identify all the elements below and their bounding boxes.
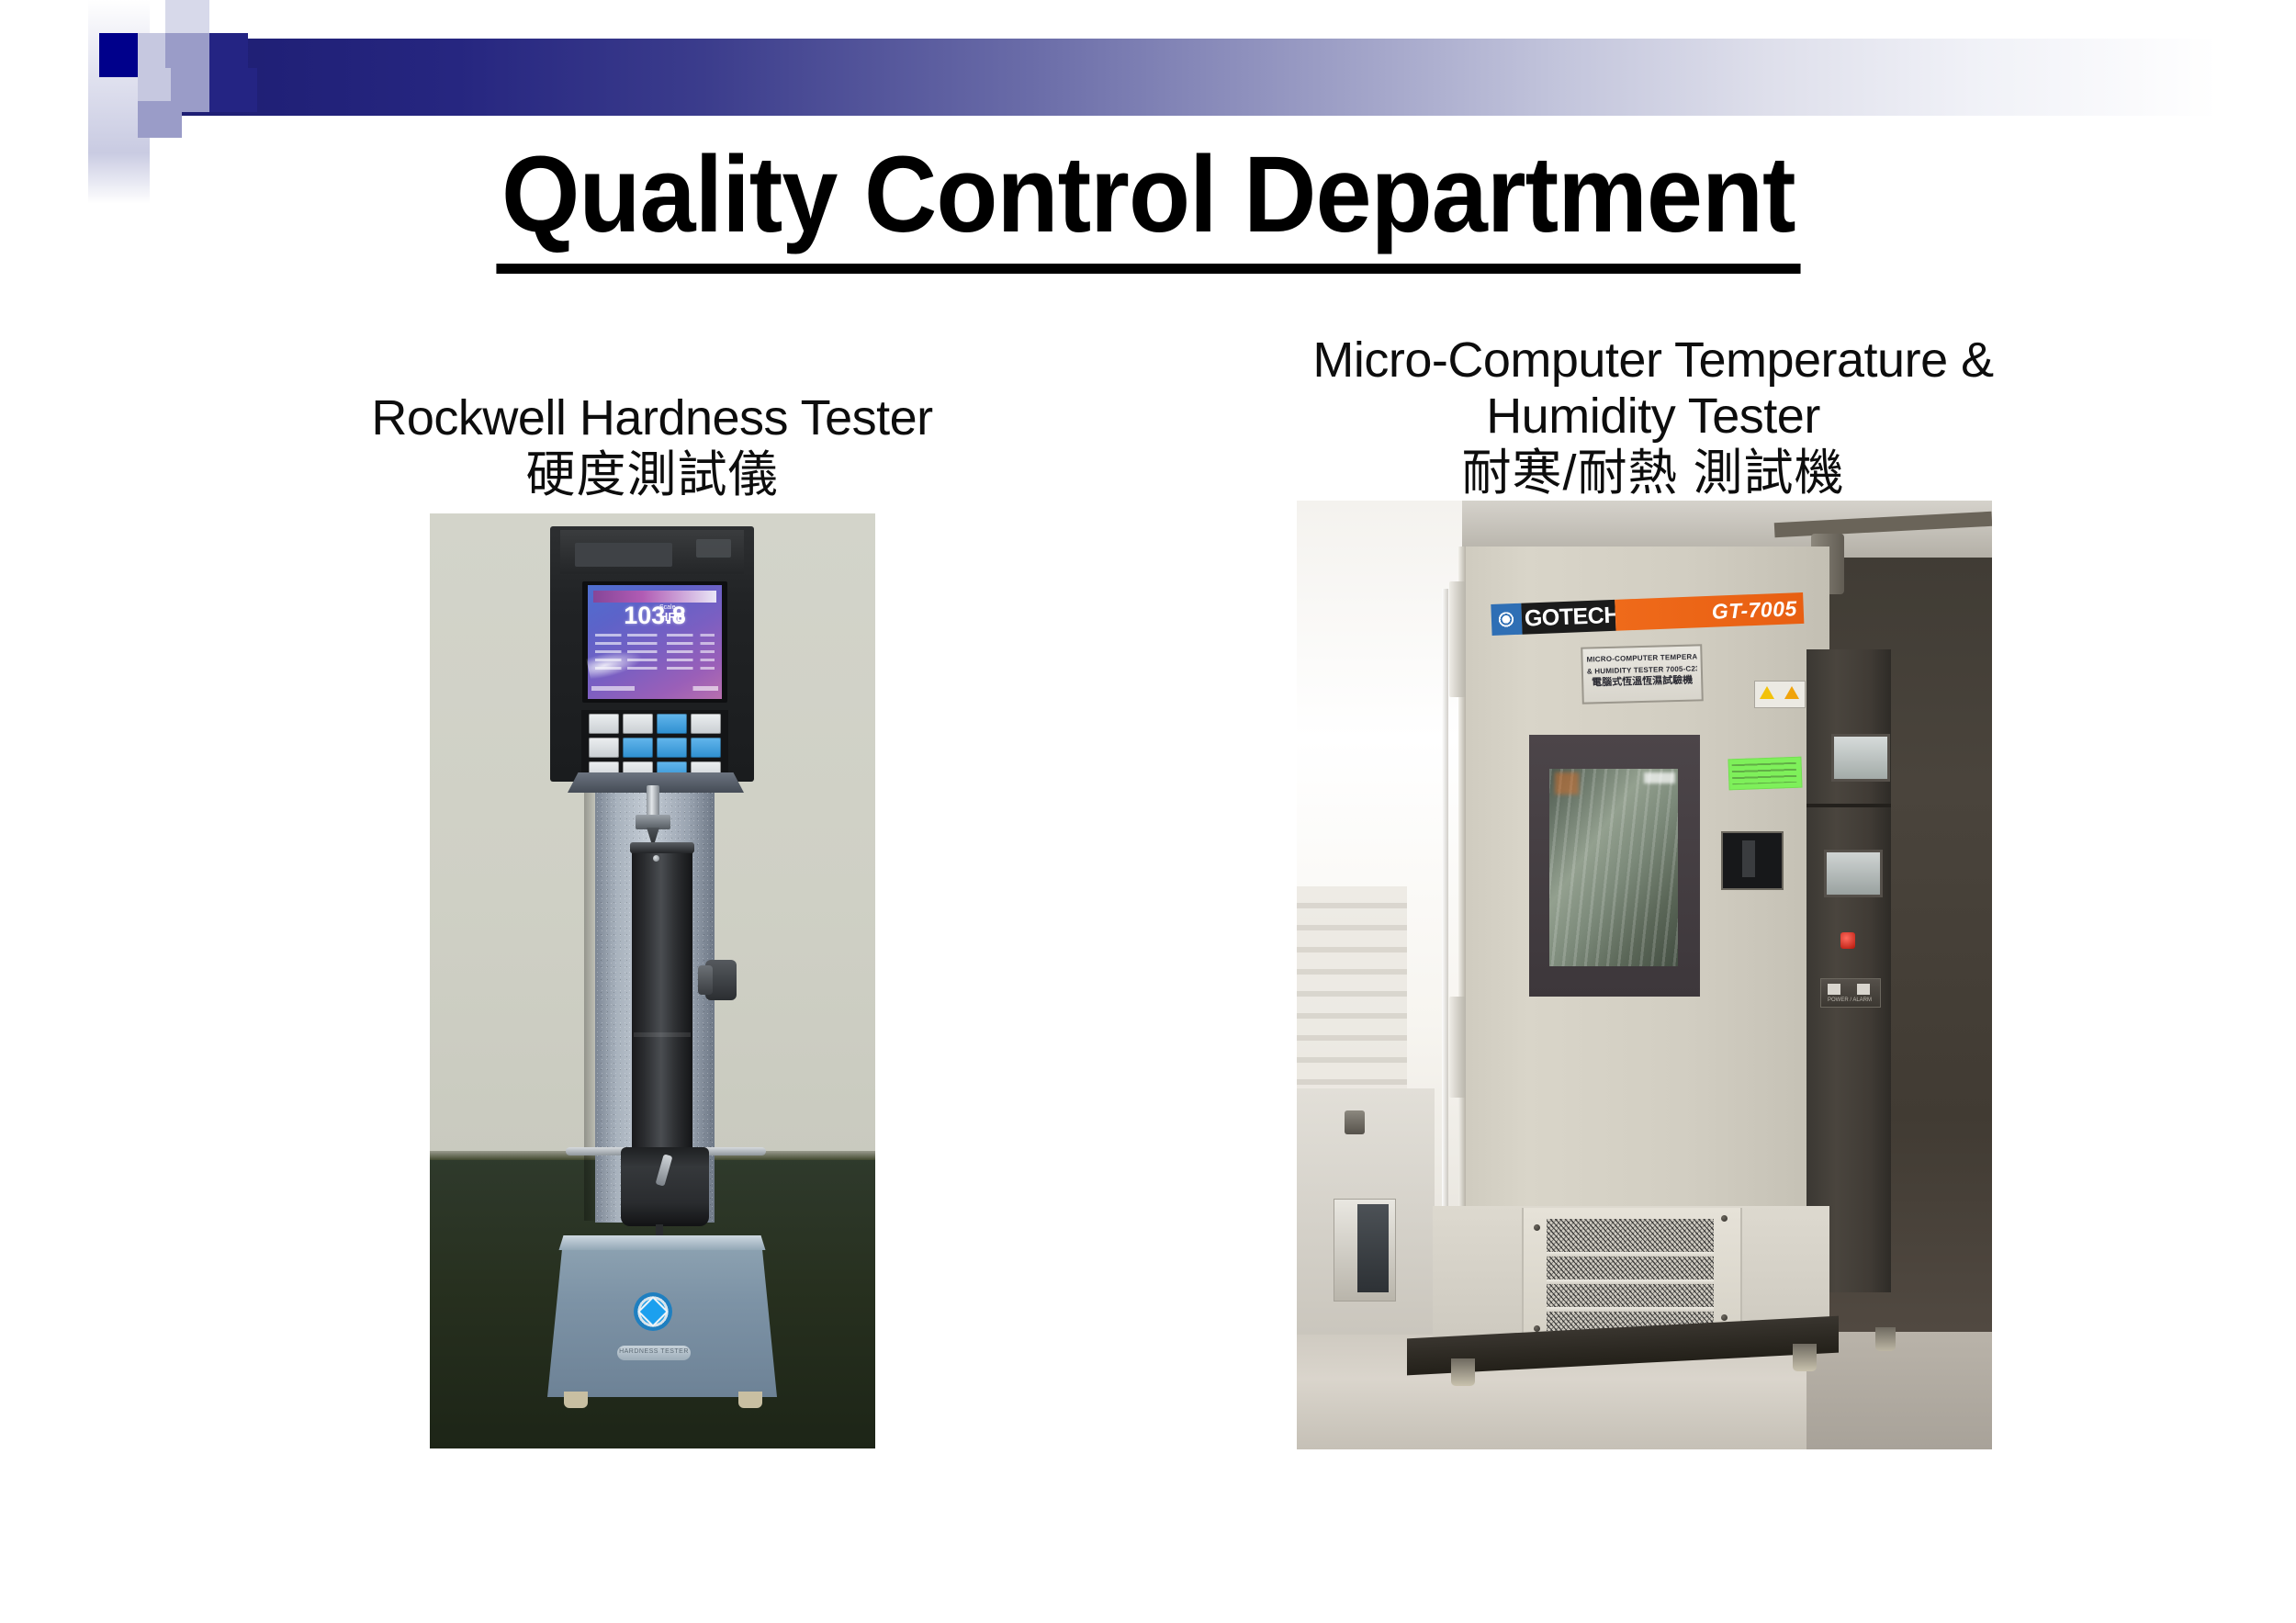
chamber-leveling-foot-right: [1793, 1344, 1817, 1371]
chamber-switch-right[interactable]: [1857, 984, 1870, 995]
tester-spindle: [647, 785, 659, 818]
header-decoration-band: [0, 0, 2296, 129]
chamber-door-hinge-bottom: [1449, 997, 1466, 1098]
header-square-9: [138, 101, 182, 138]
photo-rockwell-hardness-tester: 103.8 Scale HRB HARDNE: [430, 513, 875, 1448]
tester-foot-left: [564, 1392, 588, 1408]
chamber-vent-screw-br: [1721, 1314, 1728, 1321]
tester-column-cap: [630, 842, 694, 853]
tester-indenter-chuck: [636, 815, 670, 829]
page-title: Quality Control Department: [496, 138, 1800, 274]
keypad-key-up[interactable]: [657, 714, 687, 734]
chamber-switch-label: POWER / ALARM: [1820, 997, 1879, 1003]
title-container: Quality Control Department: [0, 138, 2296, 274]
keypad-key-right[interactable]: [691, 738, 721, 758]
tester-lcd-status-bar: [591, 686, 718, 691]
spec-plate-line3: 電腦式恆溫恆濕試驗機: [1587, 674, 1697, 689]
keypad-key-ok[interactable]: [657, 738, 687, 758]
chamber-leveling-foot-left: [1451, 1358, 1475, 1386]
chamber-vent-rib-2: [1547, 1279, 1714, 1284]
chamber-model-number: GT-7005: [1711, 596, 1804, 625]
chamber-window-glare: [1549, 769, 1678, 966]
chamber-brand-name: GOTECH: [1524, 603, 1615, 632]
keypad-key-print[interactable]: [589, 714, 619, 734]
chamber-vent-rib-1: [1547, 1252, 1714, 1257]
chamber-power-indicator-icon: [1840, 932, 1855, 949]
chamber-leveling-foot-far: [1875, 1327, 1896, 1351]
photo-temperature-humidity-chamber: GOTECH GT-7005 MICRO-COMPUTER TEMPERATUR…: [1297, 501, 1992, 1449]
gotech-target-icon: [1496, 609, 1517, 630]
tester-lcd-unit-main: HRB: [659, 610, 685, 624]
keypad-key-tool[interactable]: [623, 714, 653, 734]
caption-chamber-en-line1: Micro-Computer Temperature &: [1231, 332, 2076, 389]
chamber-side-knob[interactable]: [1345, 1110, 1365, 1134]
chamber-spec-plate: MICRO-COMPUTER TEMPERATURE & HUMIDITY TE…: [1581, 644, 1704, 704]
header-square-8: [209, 68, 257, 112]
keypad-key-esc[interactable]: [691, 714, 721, 734]
chamber-vent-screw-tl: [1534, 1224, 1540, 1231]
caption-rockwell-zh: 硬度測試儀: [303, 446, 1001, 505]
keypad-key-input[interactable]: [589, 738, 619, 758]
tester-anvil-stem: [656, 1224, 663, 1237]
tester-elevating-screw-column: [632, 846, 692, 1149]
chamber-door-hinge-top: [1449, 581, 1466, 697]
tester-base-top-edge: [547, 1235, 777, 1250]
chamber-warning-stickers: [1754, 681, 1806, 708]
keypad-key-left[interactable]: [623, 738, 653, 758]
chamber-control-display[interactable]: [1824, 850, 1883, 897]
chamber-door-gap: [1442, 589, 1448, 1287]
tester-lcd-value: 103.8: [588, 603, 722, 628]
tester-keypad[interactable]: [589, 714, 721, 782]
tester-printer-slot: [575, 543, 672, 567]
caption-chamber-zh: 耐寒/耐熱 測試機: [1231, 445, 2076, 503]
chamber-switch-left[interactable]: [1828, 984, 1840, 995]
chamber-control-upper-panel[interactable]: [1831, 734, 1890, 782]
chamber-calibration-label-text: [1732, 762, 1797, 784]
chamber-vent-mesh: [1547, 1219, 1714, 1331]
caption-rockwell: Rockwell Hardness Tester 硬度測試儀: [303, 390, 1001, 505]
tester-nameplate-text: HARDNESS TESTER: [617, 1348, 691, 1355]
tester-column-band: [634, 1032, 691, 1037]
chamber-door-handle[interactable]: [1742, 840, 1755, 877]
tester-side-knob-face[interactable]: [698, 965, 713, 995]
tester-foot-right: [738, 1392, 762, 1408]
header-square-2: [99, 33, 143, 77]
caption-rockwell-en: Rockwell Hardness Tester: [303, 390, 1001, 446]
caption-chamber-en-line2: Humidity Tester: [1231, 389, 2076, 445]
chamber-vent-screw-tr: [1721, 1215, 1728, 1222]
chamber-window-reflection-orange: [1555, 772, 1579, 795]
caption-chamber: Micro-Computer Temperature & Humidity Te…: [1231, 332, 2076, 503]
chamber-vent-rib-3: [1547, 1307, 1714, 1312]
tester-column-screw: [653, 855, 659, 862]
gotech-logo-badge: [1491, 603, 1522, 636]
chamber-window-highlight: [1644, 772, 1675, 783]
chamber-control-seam: [1806, 804, 1891, 807]
tester-head-badge: [696, 539, 731, 558]
tester-lcd-unit: Scale HRB: [659, 604, 685, 624]
chamber-side-panel-dark: [1357, 1204, 1389, 1292]
header-gradient-bar: [170, 39, 2218, 116]
